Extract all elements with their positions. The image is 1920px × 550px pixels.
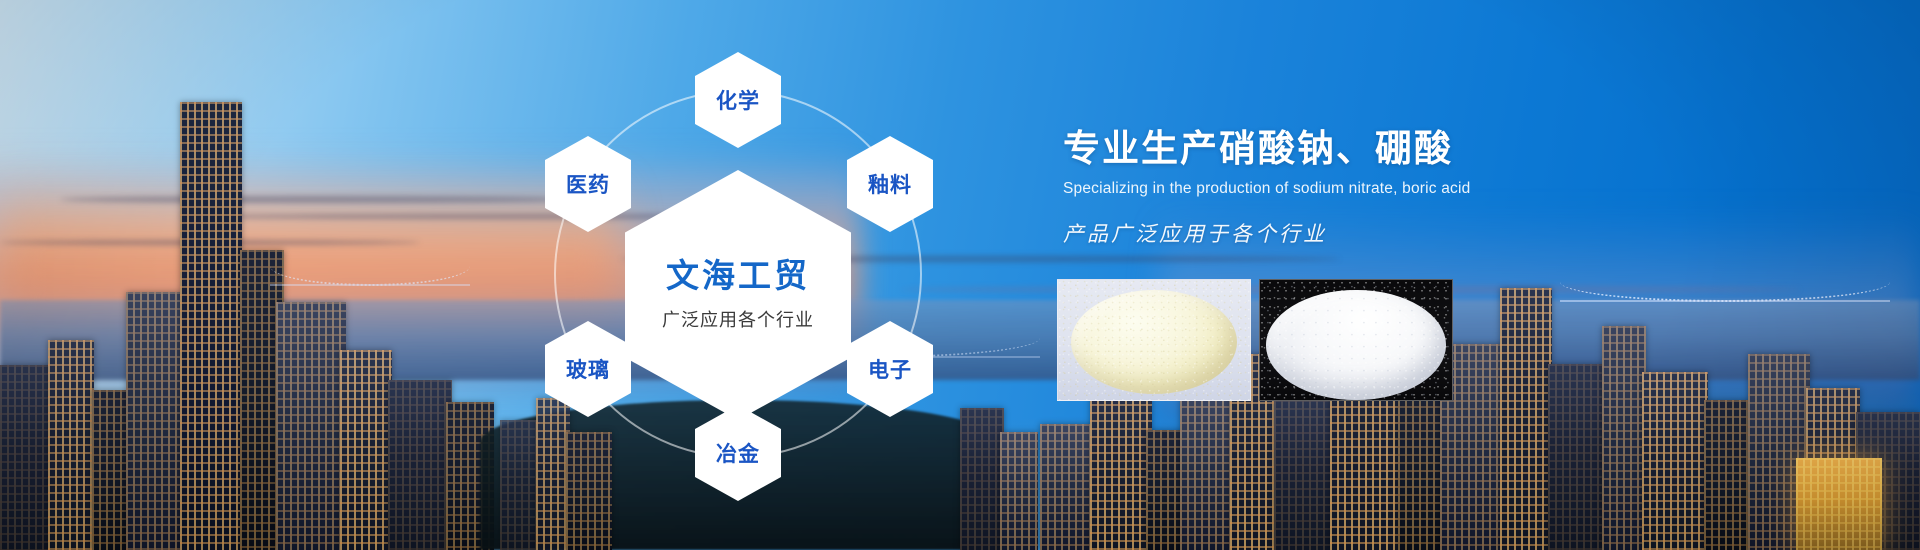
building bbox=[1704, 400, 1752, 550]
building bbox=[1602, 326, 1646, 550]
powder-grain-texture bbox=[1260, 280, 1452, 400]
headline: 专业生产硝酸钠、硼酸 bbox=[1063, 128, 1583, 171]
powder-grain-texture bbox=[1058, 280, 1250, 400]
hexagon-label-chemical: 化学 bbox=[716, 85, 760, 115]
building bbox=[1040, 424, 1096, 550]
building bbox=[126, 292, 184, 550]
building bbox=[1180, 398, 1234, 550]
illuminated-landmark bbox=[1796, 458, 1882, 550]
bridge-cable bbox=[270, 266, 470, 286]
building bbox=[92, 390, 130, 550]
headline-english: Specializing in the production of sodium… bbox=[1063, 180, 1583, 198]
product-photo-sodium-nitrate[interactable] bbox=[1057, 279, 1251, 401]
bridge-deck bbox=[1560, 300, 1890, 302]
product-photo-boric-acid[interactable] bbox=[1259, 279, 1453, 401]
company-name: 文海工贸 bbox=[666, 258, 810, 294]
marketing-copy-block: 专业生产硝酸钠、硼酸 Specializing in the productio… bbox=[1063, 128, 1583, 248]
industry-hexagon-diagram: 文海工贸 广泛应用各个行业 化学 釉料 电子 冶金 玻璃 医药 bbox=[510, 30, 1010, 520]
hexagon-label-glass: 玻璃 bbox=[566, 354, 610, 384]
hexagon-label-glaze: 釉料 bbox=[868, 169, 912, 199]
hexagon-label-electronics: 电子 bbox=[868, 354, 912, 384]
building bbox=[1090, 380, 1152, 550]
building bbox=[0, 365, 54, 550]
building bbox=[276, 302, 346, 550]
landmark-tower bbox=[180, 102, 242, 550]
promotional-banner: 文海工贸 广泛应用各个行业 化学 釉料 电子 冶金 玻璃 医药 专业生产硝酸钠、… bbox=[0, 0, 1920, 550]
building bbox=[1642, 372, 1708, 550]
building bbox=[388, 380, 452, 550]
hexagon-label-metallurgy: 冶金 bbox=[716, 438, 760, 468]
building bbox=[48, 340, 94, 550]
slogan: 产品广泛应用于各个行业 bbox=[1063, 218, 1583, 248]
building bbox=[1500, 288, 1552, 550]
bridge-cable bbox=[1560, 282, 1890, 302]
cloud-streak bbox=[60, 196, 580, 203]
building bbox=[1274, 400, 1334, 550]
suspension-bridge bbox=[270, 266, 470, 292]
hexagon-label-medicine: 医药 bbox=[566, 169, 610, 199]
suspension-bridge bbox=[1560, 282, 1890, 308]
building bbox=[340, 350, 392, 550]
product-photo-row bbox=[1057, 279, 1453, 401]
bridge-deck bbox=[270, 284, 470, 286]
company-tagline: 广泛应用各个行业 bbox=[662, 306, 814, 332]
building bbox=[1548, 364, 1606, 550]
